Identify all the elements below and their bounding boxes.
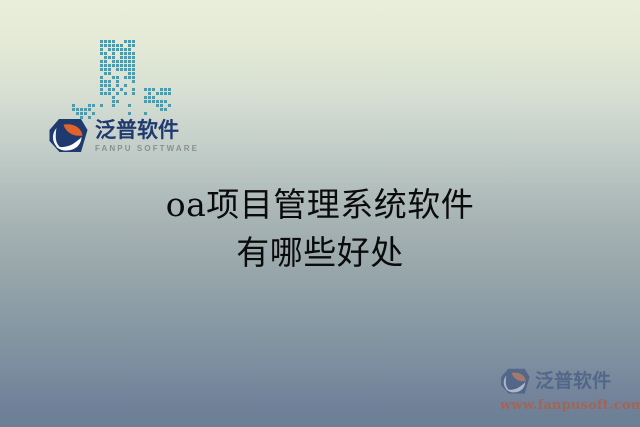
watermark-url: www.fanpusoft.com xyxy=(500,398,634,413)
watermark: 泛普软件 www.fanpusoft.com xyxy=(500,368,636,420)
page-title-line-1: oa项目管理系统软件 xyxy=(0,181,640,229)
fanpu-hexagon-logo-watermark xyxy=(500,368,530,395)
watermark-name-cn: 泛普软件 xyxy=(535,372,611,391)
brand-lockup: 泛普软件 FANPU SOFTWARE xyxy=(48,117,199,155)
fanpu-hexagon-logo xyxy=(48,118,88,154)
brand-name-en: FANPU SOFTWARE xyxy=(95,145,199,153)
watermark-lockup: 泛普软件 xyxy=(500,368,636,395)
page-title-line-2: 有哪些好处 xyxy=(0,229,640,277)
page-title: oa项目管理系统软件 有哪些好处 xyxy=(0,181,640,277)
banner-canvas: 泛普软件 FANPU SOFTWARE oa项目管理系统软件 有哪些好处 泛普软… xyxy=(0,0,640,427)
brand-wordmark: 泛普软件 FANPU SOFTWARE xyxy=(95,120,199,153)
brand-name-cn: 泛普软件 xyxy=(95,120,199,141)
pixel-skyline-graphic xyxy=(72,36,180,120)
